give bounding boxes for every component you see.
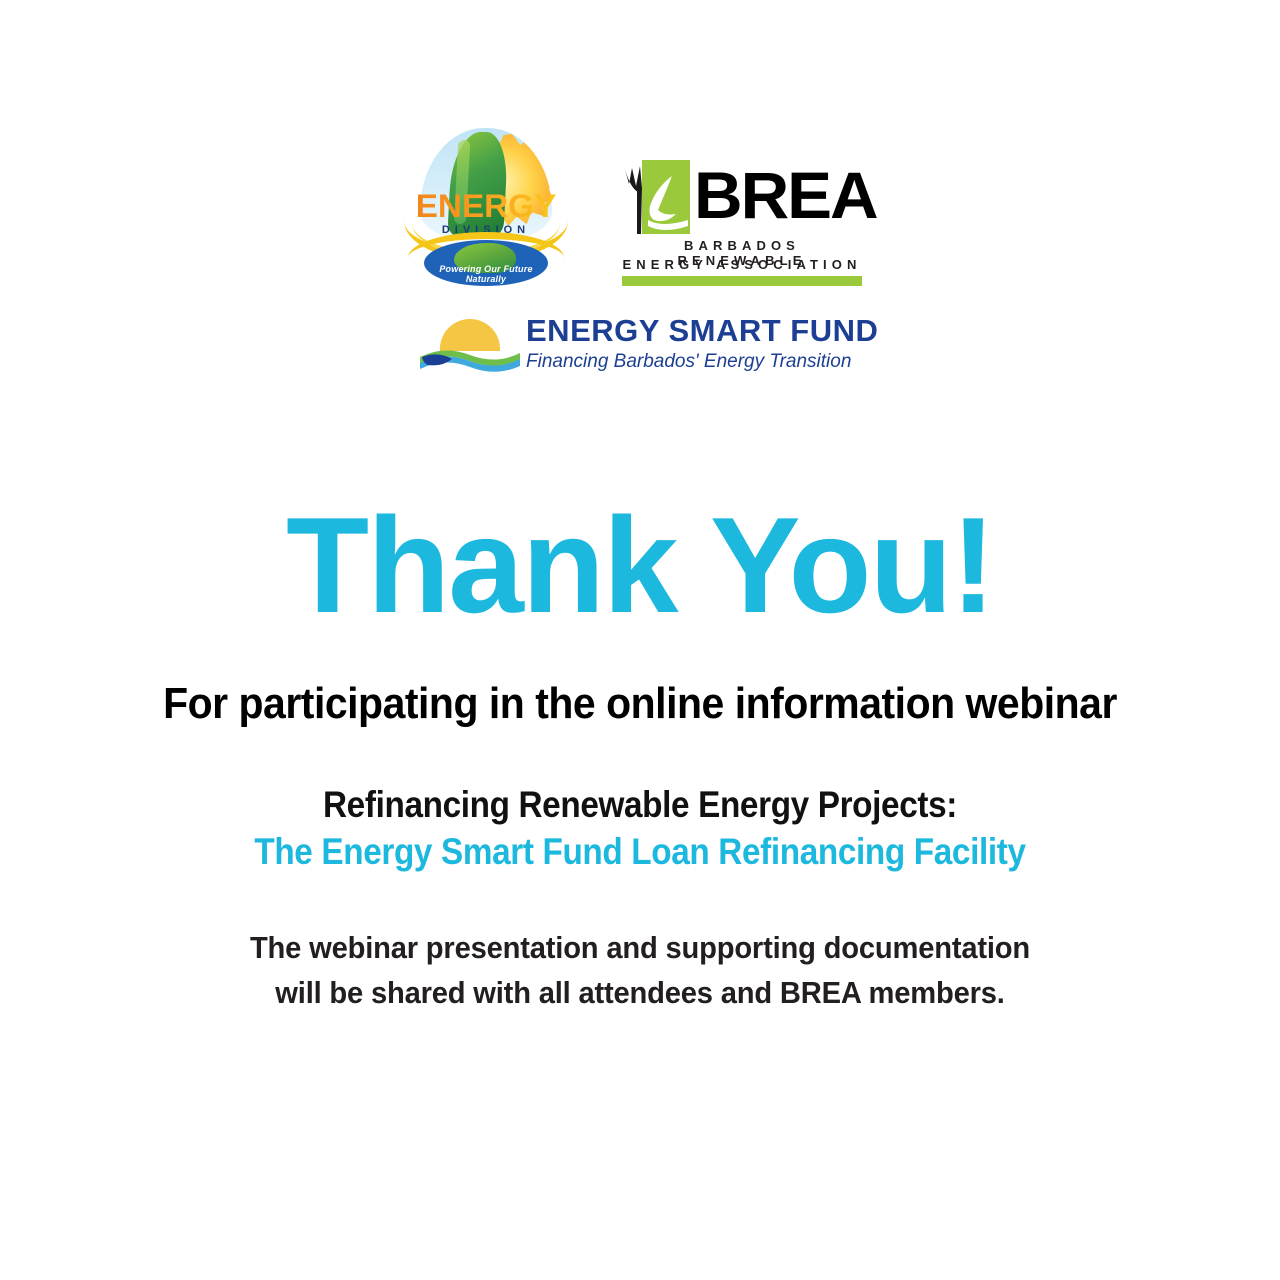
- brea-logo: BREA BARBADOS RENEWABLE ENERGY ASSOCIATI…: [620, 160, 862, 276]
- energy-division-wordmark: ENERGY: [394, 190, 577, 222]
- energy-division-logo: ENERGY DIVISION Powering Our Future Natu…: [398, 128, 574, 286]
- webinar-topic-line1: Refinancing Renewable Energy Projects:: [64, 781, 1216, 828]
- brea-green-bar: [622, 276, 862, 286]
- headline-thank-you: Thank You!: [0, 497, 1280, 633]
- sun-waves-icon: [418, 313, 522, 379]
- leaf-swoosh-icon: [642, 176, 690, 234]
- webinar-topic: Refinancing Renewable Energy Projects: T…: [0, 781, 1280, 875]
- brea-trident-leaf-icon: [620, 160, 690, 234]
- energy-smart-fund-tagline: Financing Barbados' Energy Transition: [526, 349, 864, 375]
- brea-tagline-line2: ENERGY ASSOCIATION: [622, 257, 862, 272]
- brea-wordmark: BREA: [694, 158, 877, 232]
- energy-division-ellipse: Powering Our Future Naturally: [424, 240, 548, 286]
- webinar-topic-line2: The Energy Smart Fund Loan Refinancing F…: [64, 828, 1216, 875]
- energy-smart-fund-title: ENERGY SMART FUND: [526, 313, 864, 349]
- logo-band: ENERGY DIVISION Powering Our Future Natu…: [0, 128, 1280, 398]
- followup-note-line1: The webinar presentation and supporting …: [38, 925, 1241, 970]
- thank-you-slide: ENERGY DIVISION Powering Our Future Natu…: [0, 0, 1280, 1280]
- energy-division-tagline: Powering Our Future Naturally: [424, 264, 548, 284]
- energy-smart-fund-logo: ENERGY SMART FUND Financing Barbados' En…: [418, 313, 864, 383]
- subtitle-participation: For participating in the online informat…: [45, 678, 1235, 730]
- brea-logo-top: BREA: [620, 160, 862, 234]
- followup-note: The webinar presentation and supporting …: [38, 925, 1241, 1015]
- followup-note-line2: will be shared with all attendees and BR…: [38, 970, 1241, 1015]
- energy-smart-fund-text: ENERGY SMART FUND Financing Barbados' En…: [526, 313, 864, 375]
